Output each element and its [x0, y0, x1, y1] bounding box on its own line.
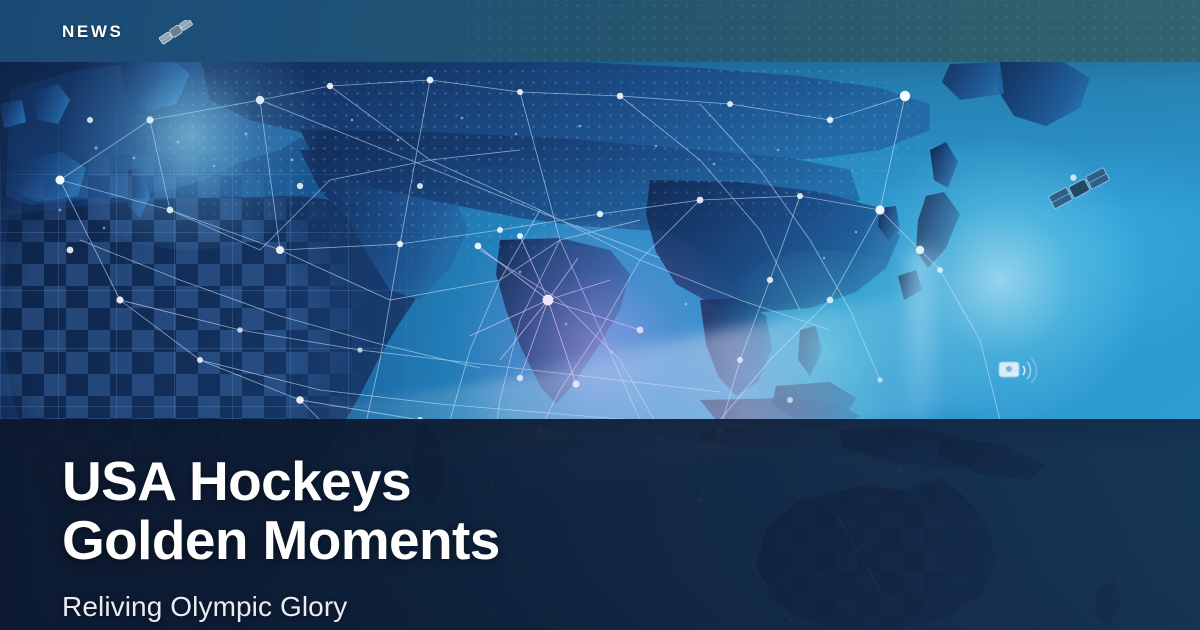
brand-label: NEWS — [62, 22, 123, 42]
headline-line-2: Golden Moments — [62, 511, 822, 570]
satellite-icon — [156, 20, 196, 48]
hero-subtitle: Reliving Olympic Glory — [62, 590, 822, 624]
bottom-band-fade — [0, 419, 1200, 453]
news-banner: NEWS USA Hockeys Golden Moments Reliving… — [0, 0, 1200, 630]
satellite-signal-icon — [985, 340, 1055, 390]
hero-text-block: USA Hockeys Golden Moments Reliving Olym… — [62, 452, 822, 624]
brand-badge: NEWS — [62, 22, 123, 42]
headline-line-1: USA Hockeys — [62, 452, 822, 511]
